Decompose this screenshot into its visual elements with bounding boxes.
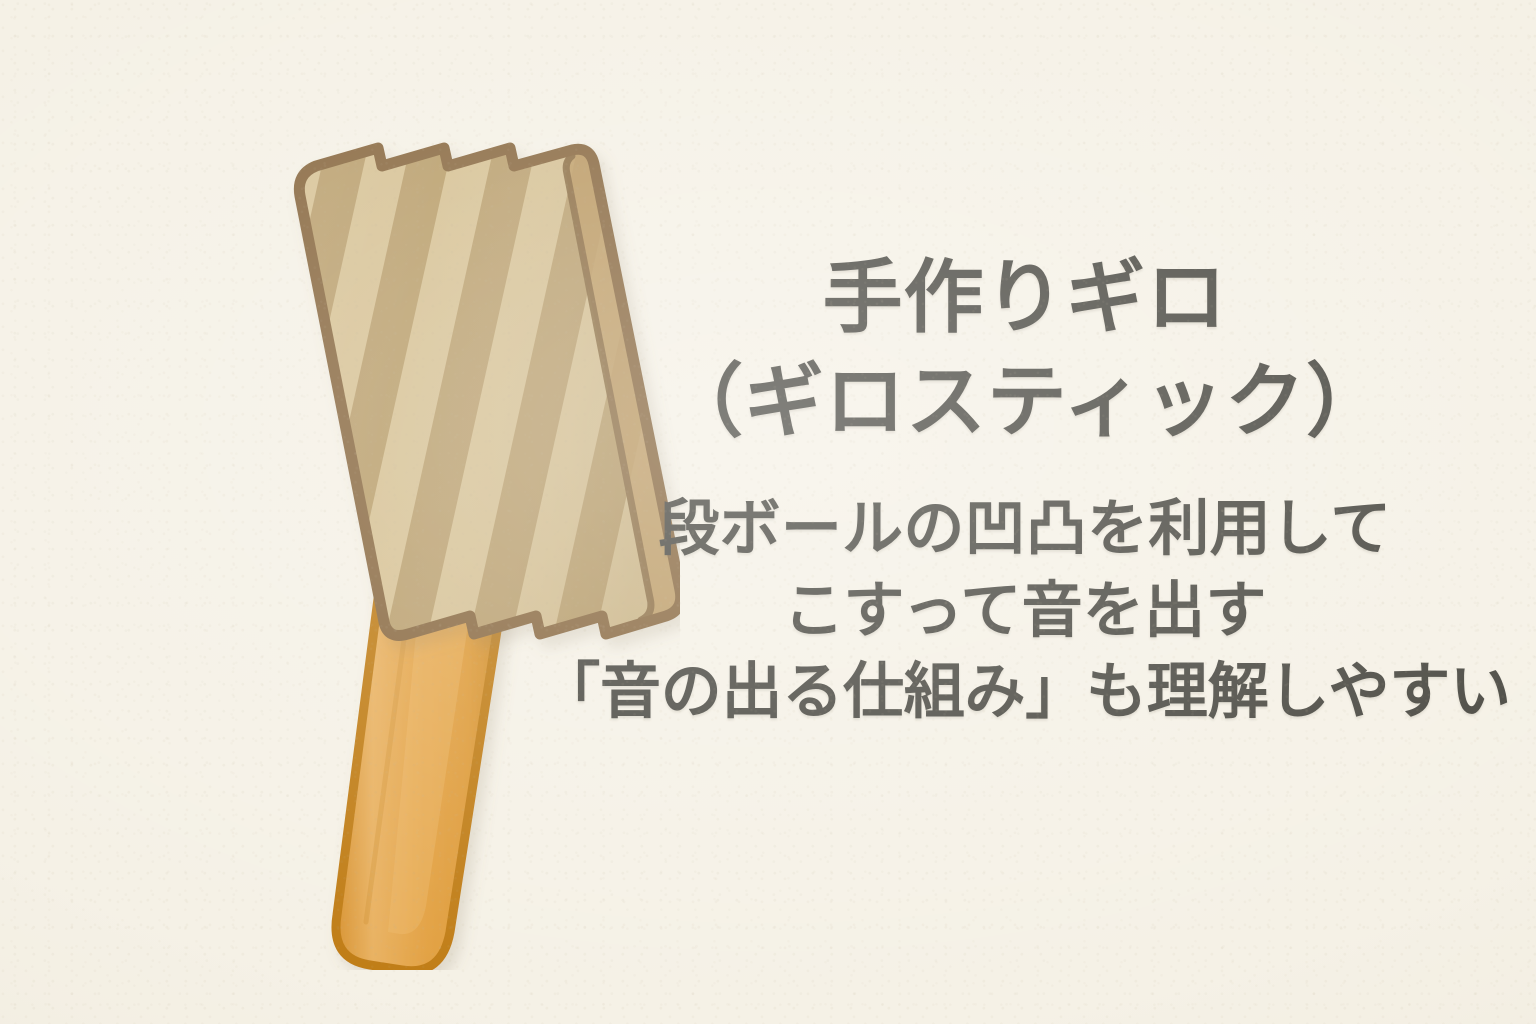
title-line-1: 手作りギロ [520, 246, 1530, 350]
title-line-2: （ギロスティック） [520, 350, 1530, 454]
description-line-1: 段ボールの凹凸を利用して [520, 488, 1530, 570]
description-line-2: こすって音を出す [520, 570, 1530, 652]
description: 段ボールの凹凸を利用して こすって音を出す 「音の出る仕組み」も理解しやすい [520, 488, 1530, 733]
slide-canvas: 手作りギロ （ギロスティック） 段ボールの凹凸を利用して こすって音を出す 「音… [0, 0, 1536, 1024]
page-title: 手作りギロ （ギロスティック） [520, 246, 1530, 454]
text-column: 手作りギロ （ギロスティック） 段ボールの凹凸を利用して こすって音を出す 「音… [520, 246, 1530, 733]
description-line-3: 「音の出る仕組み」も理解しやすい [520, 651, 1530, 733]
